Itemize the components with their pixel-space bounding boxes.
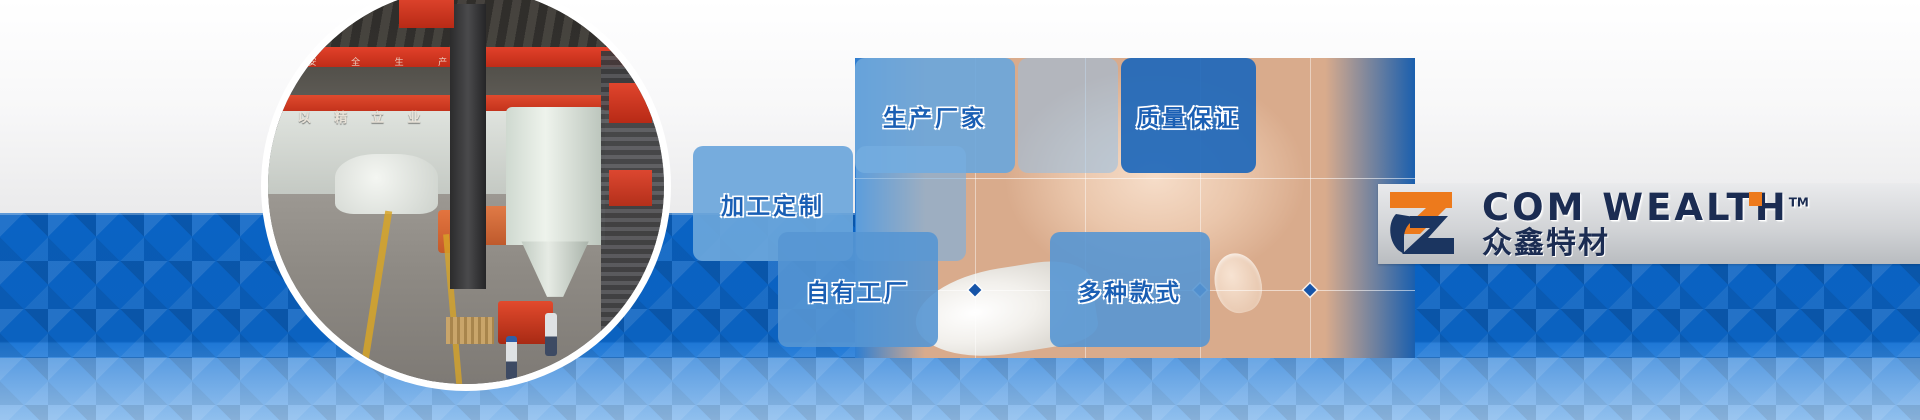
- tile-factory[interactable]: 自有工厂: [778, 232, 938, 347]
- grid-line-vertical: [1310, 58, 1311, 358]
- tile-label: 质量保证: [1137, 99, 1241, 133]
- grid-node: [969, 284, 982, 297]
- logo-mark-icon: [1386, 188, 1472, 260]
- tile-label: 生产厂家: [883, 99, 987, 133]
- logo-h-accent: [1749, 192, 1762, 206]
- tile-quality[interactable]: 质量保证: [1121, 58, 1256, 173]
- promo-banner: 安 全 生 产 以 精 立 业: [0, 0, 1920, 420]
- tile-styles[interactable]: 多种款式: [1050, 232, 1210, 347]
- logo-english: COM WEALTHTM: [1482, 189, 1809, 226]
- tile-label: 多种款式: [1078, 273, 1182, 307]
- com-wealth-logo[interactable]: COM WEALTHTM 众鑫特材: [1378, 184, 1920, 264]
- grid-node: [1304, 284, 1317, 297]
- factory-photo: 安 全 生 产 以 精 立 业: [268, 0, 664, 384]
- logo-english-text: COM WEALTH: [1482, 186, 1789, 229]
- logo-chinese: 众鑫特材: [1482, 228, 1809, 260]
- logo-text-block: COM WEALTHTM 众鑫特材: [1482, 189, 1809, 260]
- factory-photo-image: 安 全 生 产 以 精 立 业: [268, 0, 664, 384]
- tile-label: 加工定制: [721, 187, 825, 221]
- tile-ghost-a[interactable]: [1018, 58, 1118, 173]
- tile-label: 自有工厂: [806, 273, 910, 307]
- factory-banner-top: 安 全 生 产: [308, 55, 546, 75]
- logo-trademark: TM: [1789, 195, 1809, 209]
